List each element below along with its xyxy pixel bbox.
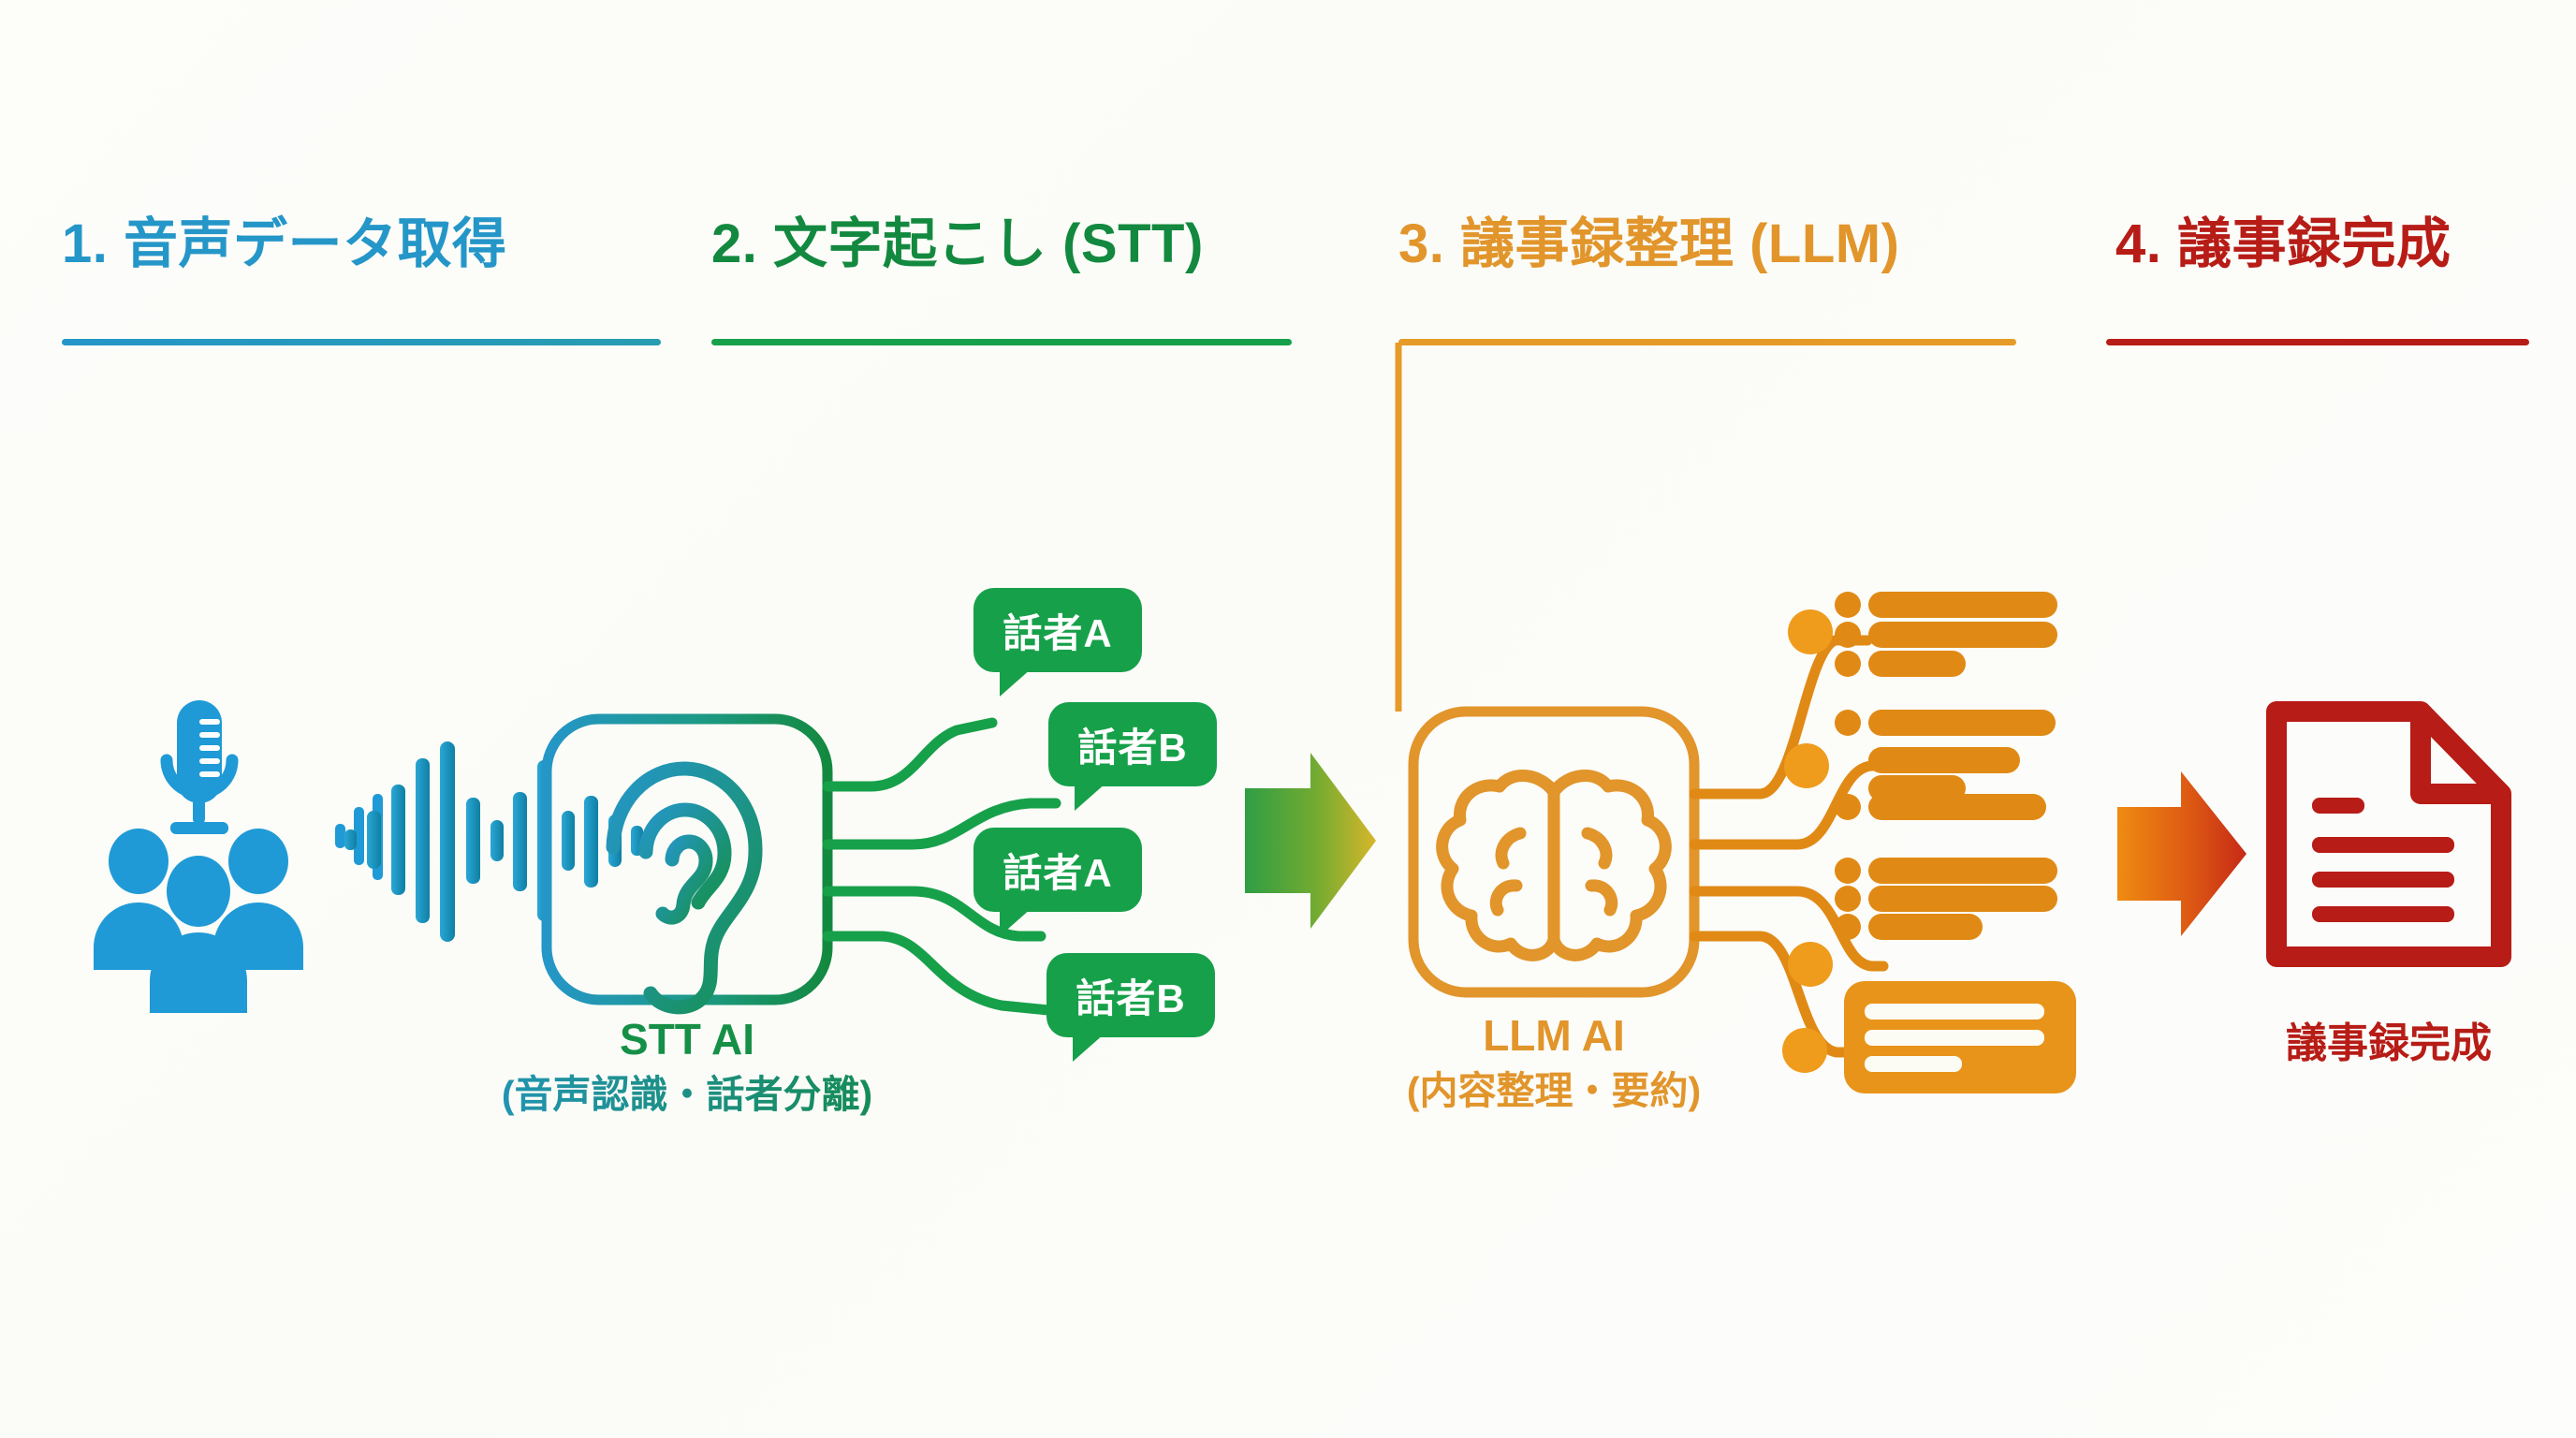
stt-ai-label: STT AI (音声認識・話者分離) <box>406 1013 968 1119</box>
sound-arc-icon <box>335 794 383 880</box>
speech-bubble-label: 話者A <box>1003 602 1112 659</box>
speech-bubble-label: 話者A <box>1003 842 1112 899</box>
speech-bubble-1: 話者A <box>973 588 1142 672</box>
llm-ai-label: LLM AI (内容整理・要約) <box>1292 1009 1816 1115</box>
output-summary-block <box>1844 981 2076 1093</box>
step-title-4: 4. 議事録完成 <box>2115 217 2452 271</box>
speech-bubble-label: 話者B <box>1077 716 1187 773</box>
llm-output-circuit-nodes <box>1782 609 1833 1073</box>
llm-ai-box <box>1413 712 1694 992</box>
document-label: 議事録完成 <box>2220 1009 2557 1069</box>
stt-ai-main-label: STT AI <box>406 1013 968 1067</box>
llm-ai-main-label: LLM AI <box>1292 1009 1816 1064</box>
llm-output-circuit-lines <box>1694 640 1883 1052</box>
step-title-1: 1. 音声データ取得 <box>62 217 507 271</box>
arrow-llm-to-document <box>2117 771 2247 936</box>
step-rule-1 <box>62 339 661 345</box>
step-rule-4 <box>2106 339 2529 345</box>
llm-ai-sub-label: (内容整理・要約) <box>1292 1067 1816 1115</box>
ear-icon <box>613 769 755 1007</box>
step-rule-3 <box>1398 339 2016 345</box>
audio-waveform-icon <box>344 741 643 942</box>
arrow-stt-to-llm <box>1245 753 1376 929</box>
speech-bubble-3: 話者A <box>973 828 1142 912</box>
stt-ai-box <box>547 719 827 1007</box>
document-icon <box>2276 712 2501 957</box>
speech-bubble-2: 話者B <box>1048 702 1217 786</box>
people-with-microphone-icon <box>94 700 303 1013</box>
brain-icon <box>1442 776 1666 956</box>
output-group-2 <box>1835 710 2056 820</box>
stt-ai-sub-label: (音声認識・話者分離) <box>406 1071 968 1119</box>
step-title-2: 2. 文字起こし (STT) <box>711 217 1204 271</box>
speech-bubble-label: 話者B <box>1076 967 1185 1024</box>
output-group-1 <box>1835 592 2057 677</box>
diagram-canvas: 1. 音声データ取得 2. 文字起こし (STT) 3. 議事録整理 (LLM)… <box>0 0 2576 1438</box>
output-group-3 <box>1835 858 2057 940</box>
step-rule-2 <box>711 339 1292 345</box>
speech-bubble-4: 話者B <box>1046 953 1215 1037</box>
step-title-3: 3. 議事録整理 (LLM) <box>1398 217 1899 271</box>
